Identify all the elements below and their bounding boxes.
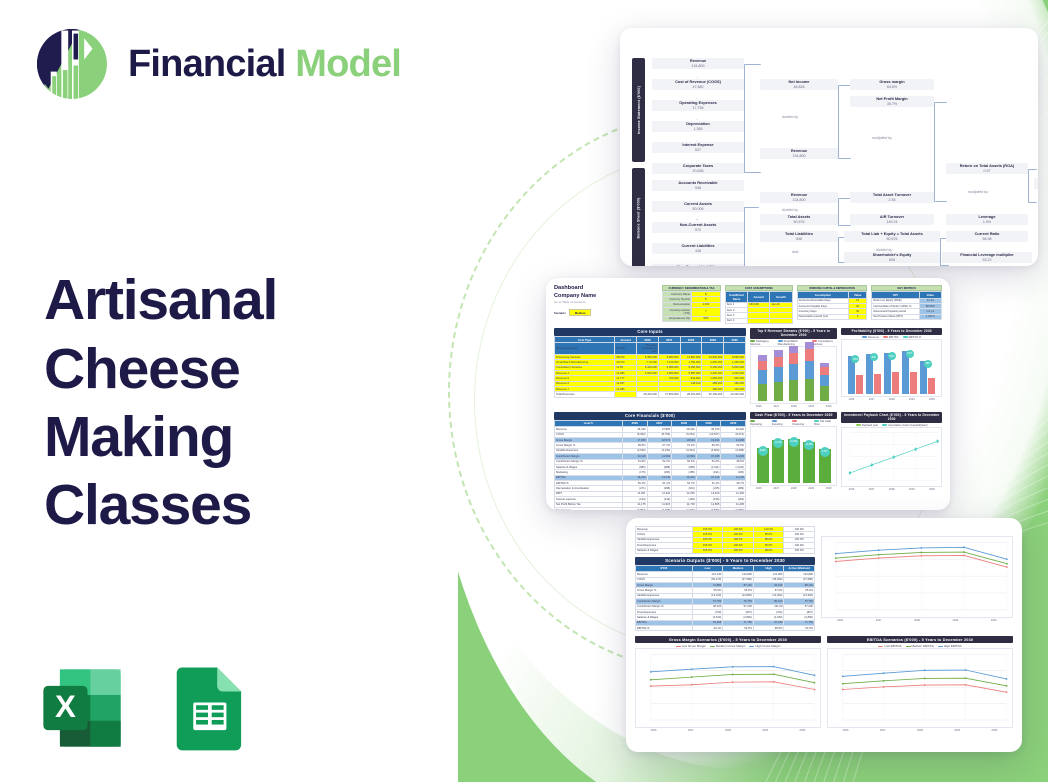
screenshot-dashboard[interactable]: Dashboard Company Name Go to Table of Co…: [546, 278, 950, 510]
chart-profitability: 49%49%53%51%48%: [841, 339, 942, 397]
axis-tick: 2030: [929, 488, 935, 491]
node-total-assets: Total Assets 50,576: [760, 214, 838, 225]
axis-tick: 2028: [914, 619, 920, 622]
bar-column: 8,727: [819, 449, 831, 482]
bar-column: [774, 350, 783, 401]
axis-tick: 2030: [991, 729, 997, 732]
axis-tick: 2027: [688, 729, 694, 732]
axis-tick: 2029: [909, 488, 915, 491]
axis-tick: 2029: [909, 398, 915, 401]
axis-tick: 2028: [917, 729, 923, 732]
brand-name-secondary: Model: [295, 43, 401, 85]
axis-tick: 2027: [773, 405, 779, 408]
axis-tick: 2026: [849, 398, 855, 401]
table-row: EBITDA %40.1%53.3%68.9%53.3%: [636, 626, 815, 631]
bar-column: [805, 342, 814, 401]
axis-tick: 2029: [762, 729, 768, 732]
data-label: 8,960: [758, 446, 768, 456]
chart-revenue-scenarios: [821, 536, 1013, 618]
node-current-liabilities: Current Liabilities 448: [652, 243, 744, 254]
data-label: 10,566: [804, 440, 814, 450]
table-row: Total Revenues26,430,00027,800,00028,400…: [555, 392, 746, 397]
panel-working-capital-table: Assumption Value Accounts Receivable Day…: [797, 291, 868, 320]
axis-tick: 2028: [889, 398, 895, 401]
node-operating-expenses: Operating Expenses 17,758: [652, 100, 744, 111]
bar-column: 10,566: [803, 442, 815, 482]
data-label: 8,727: [820, 447, 830, 457]
data-label: 11,350: [789, 437, 799, 447]
axis-tick: 2030: [991, 619, 997, 622]
chart-title-top-revenue: Top 5 Revenue Streams ($'000) - 5 Years …: [750, 328, 837, 339]
panel-currency-table: Currency Name$ Currency Symbol$ Denomina…: [662, 291, 721, 322]
bar-column: 11,350: [788, 439, 800, 483]
band-income-statement: Income Statement ($'000): [632, 58, 645, 162]
node-depreciation: Depreciation 1,365: [652, 121, 744, 132]
chart-title-profitability: Profitability ($'000) - 5 Years to Decem…: [841, 328, 942, 335]
table-row: Tax Expense(3,952)(4,008)(4,279)(4,580)(…: [555, 507, 746, 510]
chart-ebitda-scenarios: [827, 648, 1013, 728]
connector-bs: [744, 207, 759, 266]
node-corporate-taxes: Corporate Taxes 20,636: [652, 163, 744, 174]
brand-name-primary: Financial: [128, 43, 286, 85]
scenario-outputs-table: $'000 Low Medium High Active (Medium) Re…: [635, 565, 815, 632]
node-total-asset-turnover: Total Asset Turnover 2.55: [850, 192, 934, 203]
node-roe: Return on Equity (ROE) 61.33: [1034, 178, 1038, 189]
axis-tick: 2026: [756, 487, 762, 490]
node-current-ratio: Current Ratio 58.98: [946, 231, 1028, 242]
axis-tick: 2029: [808, 487, 814, 490]
left-content-panel: Financial Model Artisanal Cheese Making …: [0, 0, 460, 782]
node-net-income: Net Income 46,828: [760, 79, 838, 90]
dupont-tree: Income Statement ($'000) Balance Sheet (…: [620, 28, 1038, 266]
axis-tick: 2030: [826, 487, 832, 490]
axis-tick: 2027: [869, 488, 875, 491]
chart-top-revenue-streams: [750, 346, 837, 404]
op-add: Add: [792, 250, 798, 254]
node-non-current-liabilities: Non-Current Liabilities 100: [652, 264, 744, 266]
node-interest-expense: Interest Expense 537: [652, 142, 744, 153]
axis-tick: 2026: [756, 405, 762, 408]
promo-banner: Financial Model Artisanal Cheese Making …: [0, 0, 1048, 782]
table-row: Net Present Value (NPV)1,250.0: [872, 314, 942, 319]
band-balance-sheet: Balance Sheet ($'000): [632, 168, 645, 266]
op-divided-1: divided by: [782, 115, 798, 119]
bar-group: 53%: [884, 353, 899, 394]
node-ar-turnover: A/R Turnover 149.24: [850, 214, 934, 225]
scenario-assumptions-table: Revenue105.0%100.0%110.0%100.0%COGS105.0…: [635, 526, 815, 554]
scenario-sheet: Revenue105.0%100.0%110.0%100.0%COGS105.0…: [626, 518, 1022, 752]
axis-tick: 2030: [826, 405, 832, 408]
node-current-assets: Current Assets 50,006: [652, 201, 744, 212]
node-gross-margin: Gross margin 64.6%: [850, 79, 934, 90]
table-row: Depreciation period (yrs)5: [797, 314, 867, 319]
axis-tick: 2030: [799, 729, 805, 732]
node-non-current-assets: Non-Current Assets 570: [652, 222, 744, 233]
data-label: 51%: [906, 350, 914, 358]
op-multiplied-1: multiplied by: [872, 136, 892, 140]
core-inputs-title: Core Inputs: [554, 328, 746, 336]
headline-line-4: Classes: [44, 471, 444, 539]
chart-investment-payback: [841, 427, 942, 487]
axis-labels-payback: 20262027202820292030: [841, 487, 942, 491]
node-total-liabilities: Total Liabilities 548: [760, 231, 838, 242]
table-row: Currency version (Y/N)Y: [663, 308, 721, 316]
core-inputs-table: Cost Type Amount 2026 2027 2028 2029 203…: [554, 336, 746, 398]
bar-column: 11,199: [772, 440, 784, 483]
data-label: 48%: [924, 360, 932, 368]
chart-title-ebitda-scenarios: EBITDA Scenarios ($'000) - 5 Years to De…: [827, 636, 1013, 643]
op-divided-2: divided by: [782, 208, 798, 212]
table-row: Item 4: [725, 318, 792, 323]
data-label: 11,199: [773, 438, 783, 448]
dashboard-sheet: Dashboard Company Name Go to Table of Co…: [546, 278, 950, 510]
headline-line-2: Cheese: [44, 335, 444, 403]
node-net-profit-margin: Net Profit Margin 35.7%: [850, 96, 934, 107]
bar-group: 49%: [866, 354, 881, 394]
axis-labels-cash-flow: 20262027202820292030: [750, 486, 837, 490]
core-financials-title: Core Financials ($'000): [554, 412, 746, 420]
op-multiplied-2: multiplied by: [968, 190, 988, 194]
axis-tick: 2028: [791, 487, 797, 490]
axis-tick: 2026: [849, 488, 855, 491]
panel-cost-table: Cost/Direct Name Amount Growth Item 1180…: [725, 291, 793, 324]
axis-labels-profitability: 20262027202820292030: [841, 397, 942, 401]
axis-tick: 2028: [889, 488, 895, 491]
axis-labels-top-revenue: 20262027202820292030: [750, 404, 837, 408]
table-row: Corporate tax (%)30%: [663, 316, 721, 321]
bar-group: 48%: [920, 361, 935, 394]
node-leverage: Leverage 1.0%: [946, 214, 1028, 225]
connector-is: [744, 64, 761, 173]
node-total-liab-equity: Total Liab + Equity = Total Assets 50,57…: [844, 231, 940, 242]
axis-tick: 2030: [929, 398, 935, 401]
axis-tick: 2026: [843, 729, 849, 732]
axis-tick: 2027: [876, 619, 882, 622]
screenshot-dupont-analysis[interactable]: Income Statement ($'000) Balance Sheet (…: [620, 28, 1038, 266]
chart-title-payback: Investment Payback Chart ($'000) - 5 Yea…: [841, 412, 942, 423]
axis-tick: 2028: [791, 405, 797, 408]
chart-title-cash-flow: Cash Flow ($'000) - 5 Years to December …: [750, 412, 837, 419]
panel-key-metrics-table: KPI Value Return on Equity (ROE)61.33 In…: [871, 291, 942, 320]
axis-tick: 2027: [869, 398, 875, 401]
legend-cash-flow: Operating Investing Financing Net Cash F…: [750, 419, 837, 426]
data-label: 49%: [870, 353, 878, 361]
scenario-label: Scenario: [554, 311, 566, 315]
node-cogs: Cost of Revenue (COGS) 47,680: [652, 79, 744, 90]
node-accounts-receivable: Accounts Receivable 948: [652, 180, 744, 191]
bar-column: 8,960: [757, 448, 769, 482]
scenario-selector[interactable]: Medium: [569, 309, 592, 316]
dashboard-title: Dashboard: [554, 285, 658, 293]
axis-tick: 2026: [651, 729, 657, 732]
table-row: Revenue streamsGrowthRevenue Forecast by…: [555, 343, 746, 354]
connector-roa: [934, 102, 947, 202]
dashboard-company: Company Name: [554, 293, 658, 301]
node-roa: Return on Total Assets (ROA) 0.97: [946, 163, 1028, 174]
legend-top-revenue: Packaging Services Small Batch Manufactu…: [750, 339, 837, 346]
svg-text:X: X: [55, 689, 76, 724]
data-label: 49%: [851, 355, 859, 363]
scenario-outputs-title: Scenario Outputs ($'000) - 5 Years to De…: [635, 557, 815, 565]
brand-lockup: Financial Model: [34, 26, 401, 102]
axis-tick: 2027: [880, 729, 886, 732]
bar-group: 51%: [902, 351, 917, 394]
axis-tick: 2027: [773, 487, 779, 490]
microsoft-excel-icon[interactable]: X: [36, 662, 128, 754]
chart-title-gross-margin-scenarios: Gross Margin Scenarios ($'000) - 5 Years…: [635, 636, 821, 643]
google-sheets-icon[interactable]: [162, 662, 254, 754]
axis-tick: 2029: [808, 405, 814, 408]
node-revenue: Revenue 134,800: [652, 58, 744, 69]
chart-gross-margin-scenarios: [635, 648, 821, 728]
screenshot-scenarios[interactable]: Revenue105.0%100.0%110.0%100.0%COGS105.0…: [626, 518, 1022, 752]
node-revenue-2: Revenue 134,800: [760, 148, 838, 159]
dashboard-toc-link[interactable]: Go to Table of Contents: [554, 300, 658, 304]
table-row: Salaries & Wages105.0%100.0%98.0%100.0%: [636, 548, 815, 553]
axis-tick: 2029: [952, 619, 958, 622]
node-revenue-3: Revenue 134,800: [760, 192, 838, 203]
bar-column: [789, 346, 798, 401]
page-title: Artisanal Cheese Making Classes: [44, 266, 444, 540]
bar-group: 49%: [848, 356, 863, 394]
node-financial-leverage-multiplier: Financial Leverage multiplier 53.22: [942, 252, 1032, 263]
axis-tick: 2029: [954, 729, 960, 732]
axis-tick: 2026: [837, 619, 843, 622]
bar-column: [758, 355, 767, 401]
data-label: 53%: [888, 352, 896, 360]
chart-cash-flow: 8,96011,19911,35010,5668,727: [750, 426, 837, 486]
financial-model-logo-icon: [34, 26, 110, 102]
axis-tick: 2028: [725, 729, 731, 732]
headline-line-3: Making: [44, 403, 444, 471]
bar-column: [820, 363, 829, 401]
node-shareholders-equity: Shareholder's Equity 805: [844, 252, 940, 263]
headline-line-1: Artisanal: [44, 266, 444, 334]
brand-wordmark: Financial Model: [128, 45, 401, 83]
supported-apps: X: [36, 662, 254, 754]
core-financials-table: Line/Yr 2026 2027 2028 2029 2030 Revenue…: [554, 420, 746, 510]
